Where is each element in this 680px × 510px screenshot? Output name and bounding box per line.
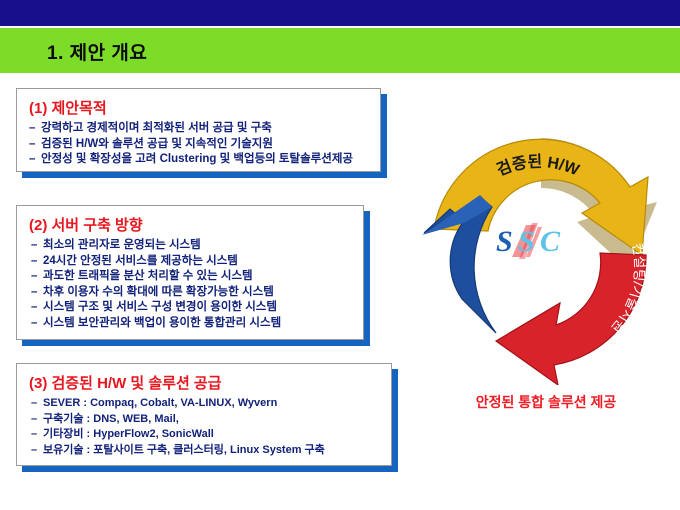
ssc-letter-s2: S [518, 225, 534, 258]
list-item: 기타장비 : HyperFlow2, SonicWall [17, 427, 391, 443]
box-heading-2: (2) 서버 구축 방향 [29, 214, 363, 235]
box-heading-3: (3) 검증된 H/W 및 솔루션 공급 [29, 372, 391, 393]
cycle-diagram: 검증된 H/W 우수한 팀 구성력 컨설팅/기술지원 S S C [404, 103, 672, 385]
top-navy-band [0, 0, 680, 26]
box-heading-1: (1) 제안목적 [29, 97, 380, 118]
list-item: SEVER : Compaq, Cobalt, VA-LINUX, Wyvern [17, 396, 391, 412]
content-box-server-direction: (2) 서버 구축 방향 최소의 관리자로 운영되는 시스템 24시간 안정된 … [16, 205, 364, 340]
page-title: 1. 제안 개요 [47, 38, 147, 65]
list-item: 시스템 보안관리와 백업이 용이한 통합관리 시스템 [17, 316, 363, 332]
ssc-logo: S S C [492, 221, 584, 261]
list-item: 검증된 H/W와 솔루션 공급 및 지속적인 기술지원 [17, 137, 380, 153]
list-item: 시스템 구조 및 서비스 구성 변경이 용이한 시스템 [17, 300, 363, 316]
bullet-list-2: 최소의 관리자로 운영되는 시스템 24시간 안정된 서비스를 제공하는 시스템… [17, 238, 363, 331]
ssc-letter-c: C [540, 225, 561, 258]
content-box-proposal-purpose: (1) 제안목적 강력하고 경제적이며 최적화된 서버 공급 및 구축 검증된 … [16, 88, 381, 172]
ssc-letter-s1: S [496, 225, 512, 258]
list-item: 차후 이용자 수의 확대에 따른 확장가능한 시스템 [17, 285, 363, 301]
list-item: 구축기술 : DNS, WEB, Mail, [17, 412, 391, 428]
list-item: 강력하고 경제적이며 최적화된 서버 공급 및 구축 [17, 121, 380, 137]
list-item: 안정성 및 확장성을 고려 Clustering 및 백업등의 토탈솔루션제공 [17, 152, 380, 168]
list-item: 과도한 트래픽을 분산 처리할 수 있는 시스템 [17, 269, 363, 285]
list-item: 보유기술 : 포탈사이트 구축, 클러스터링, Linux System 구축 [17, 443, 391, 459]
content-box-verified-hw: (3) 검증된 H/W 및 솔루션 공급 SEVER : Compaq, Cob… [16, 363, 392, 466]
list-item: 최소의 관리자로 운영되는 시스템 [17, 238, 363, 254]
bullet-list-1: 강력하고 경제적이며 최적화된 서버 공급 및 구축 검증된 H/W와 솔루션 … [17, 121, 380, 168]
list-item: 24시간 안정된 서비스를 제공하는 시스템 [17, 254, 363, 270]
bullet-list-3: SEVER : Compaq, Cobalt, VA-LINUX, Wyvern… [17, 396, 391, 458]
diagram-caption: 안정된 통합 솔루션 제공 [426, 392, 666, 412]
